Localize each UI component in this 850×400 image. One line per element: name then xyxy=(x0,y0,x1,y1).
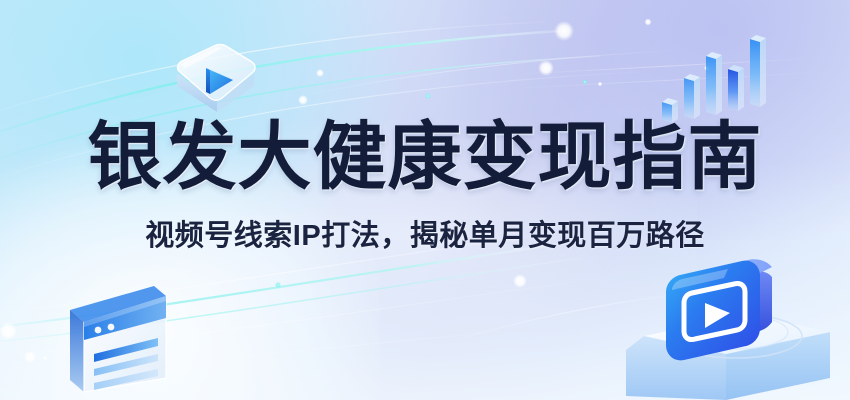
video-play-icon-3d xyxy=(608,258,850,400)
play-card-small xyxy=(170,38,260,124)
bar-item xyxy=(684,74,700,119)
bar-item xyxy=(750,35,766,107)
bar-group xyxy=(662,35,766,123)
title-block: 银发大健康变现指南 视频号线索IP打法，揭秘单月变现百万路径 xyxy=(0,118,850,254)
bar-chart-3d xyxy=(660,28,776,124)
document-card-3d xyxy=(62,276,184,400)
window-dot xyxy=(108,324,115,331)
page-title: 银发大健康变现指南 xyxy=(0,118,850,196)
bar-item xyxy=(706,52,722,115)
window-dot xyxy=(95,327,102,334)
page-subtitle: 视频号线索IP打法，揭秘单月变现百万路径 xyxy=(0,212,850,254)
promo-banner: 银发大健康变现指南 视频号线索IP打法，揭秘单月变现百万路径 xyxy=(0,0,850,400)
bar-item xyxy=(728,65,744,111)
